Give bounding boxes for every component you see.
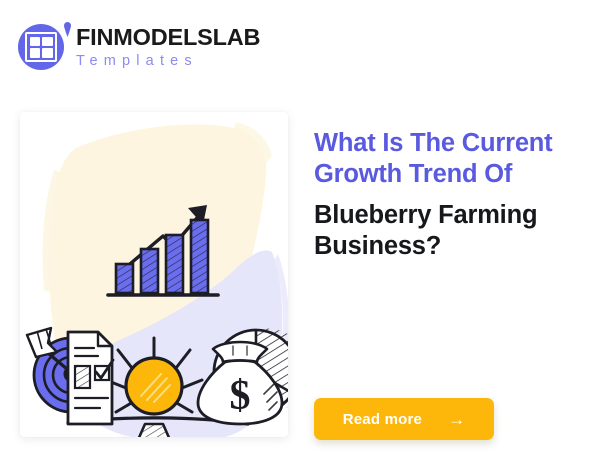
grid-cell <box>42 37 52 46</box>
page-title: What Is The Current Growth Trend Of <box>314 128 586 190</box>
business-growth-illustration: $ <box>20 112 288 437</box>
grid-cell <box>30 37 40 46</box>
dollar-sign: $ <box>230 373 251 419</box>
promo-banner: FINMODELSLAB Templates <box>0 0 600 464</box>
chart-bar <box>141 249 158 293</box>
page-subtitle: Blueberry Farming Business? <box>314 200 586 262</box>
grid-cell <box>42 48 52 57</box>
document-checklist-icon <box>68 332 113 424</box>
arrow-right-icon: → <box>448 411 465 428</box>
illustration-card: $ <box>20 112 288 437</box>
read-more-label: Read more <box>343 411 422 428</box>
grid-2x2-icon <box>18 24 64 70</box>
banner-copy: What Is The Current Growth Trend Of Blue… <box>314 128 586 262</box>
brand-wordmark: FINMODELSLAB Templates <box>76 26 260 69</box>
chart-bar <box>116 264 133 293</box>
brand-logo[interactable]: FINMODELSLAB Templates <box>18 24 260 70</box>
brand-tagline: Templates <box>76 54 260 69</box>
chart-bar <box>166 235 183 293</box>
grid-2x2-icon-cells <box>25 32 57 62</box>
brand-name: FINMODELSLAB <box>76 26 260 50</box>
chart-bar <box>191 220 208 293</box>
read-more-button[interactable]: Read more → <box>314 398 494 440</box>
grid-cell <box>30 48 40 57</box>
map-pin-icon <box>64 22 71 37</box>
